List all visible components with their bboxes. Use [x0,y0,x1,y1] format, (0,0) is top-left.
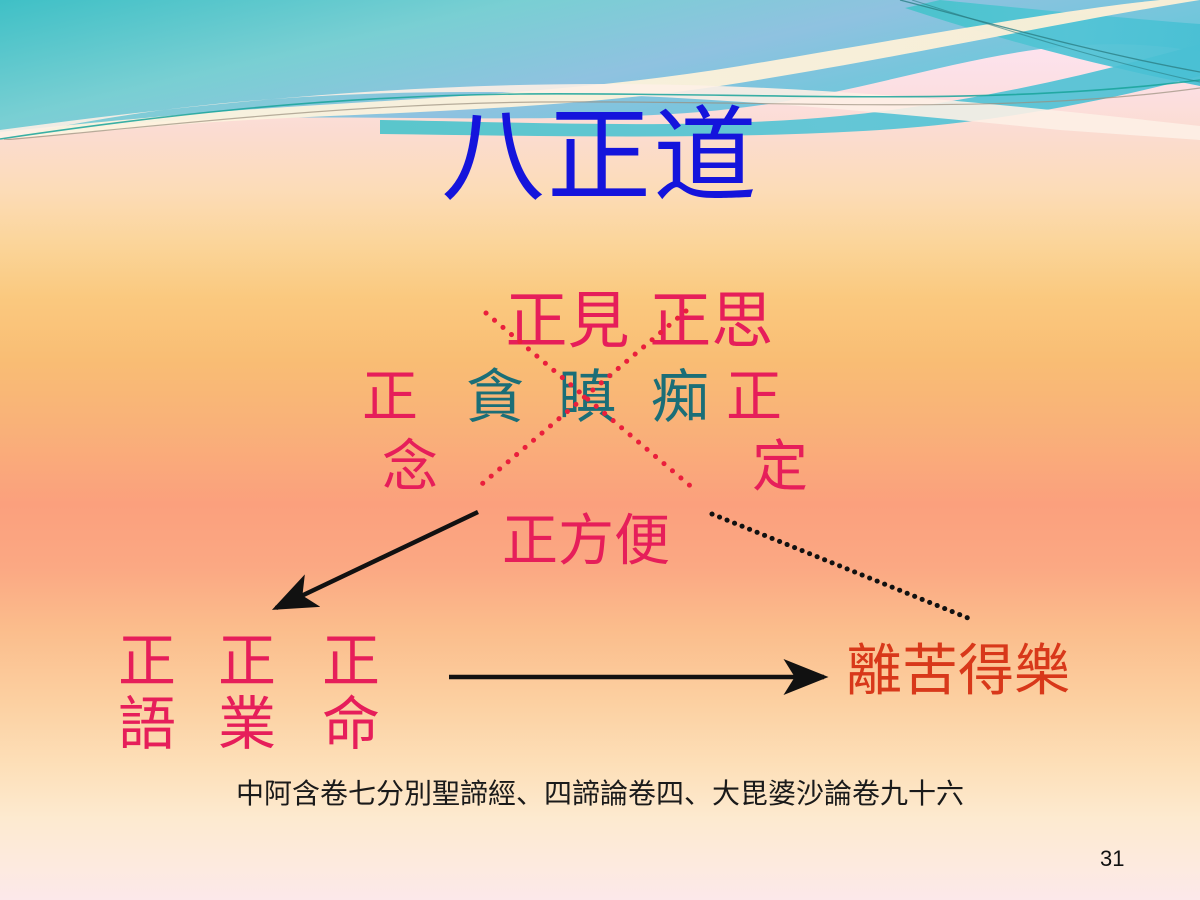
path-right-thought: 正思 [649,284,773,357]
path-right-concentration-char1: 正 [726,370,782,426]
wave-thin-line-4 [912,0,1200,82]
source-note: 中阿含卷七分別聖諦經、四諦論卷四、大毘婆沙論卷九十六 [0,780,1200,808]
path-right-concentration-char2: 定 [752,440,808,496]
path-right-livelihood: 正 命 [322,630,380,755]
path-right-mindfulness-char1: 正 [362,370,418,426]
path-row-gap [630,284,650,357]
page-number: 31 [1100,848,1124,870]
path-right-livelihood-bottom: 命 [322,693,380,756]
wave-thin-line-3 [900,0,1200,72]
slide-canvas: 八正道 正見 正思 正 念 貪 瞋 痴 正 定 正方便 正 語 正 業 正 命 … [0,0,1200,900]
arrow-to-bottom-left [276,512,478,608]
path-right-speech: 正 語 [118,630,176,755]
path-right-action-top: 正 [218,630,276,693]
path-right-mindfulness-char2: 念 [382,440,438,496]
path-right-action-bottom: 業 [218,693,276,756]
path-right-speech-top: 正 [118,630,176,693]
path-right-speech-bottom: 語 [118,693,176,756]
path-right-effort: 正方便 [502,514,670,570]
path-right-view: 正見 [506,284,630,357]
three-poisons-label: 貪 瞋 痴 [466,368,717,426]
path-right-action: 正 業 [218,630,276,755]
wave-teal-right [905,0,1200,86]
path-right-livelihood-top: 正 [322,630,380,693]
dotted-arrow-to-bottom-right [712,514,968,618]
slide-title: 八正道 [0,104,1200,208]
result-label: 離苦得樂 [846,644,1070,700]
